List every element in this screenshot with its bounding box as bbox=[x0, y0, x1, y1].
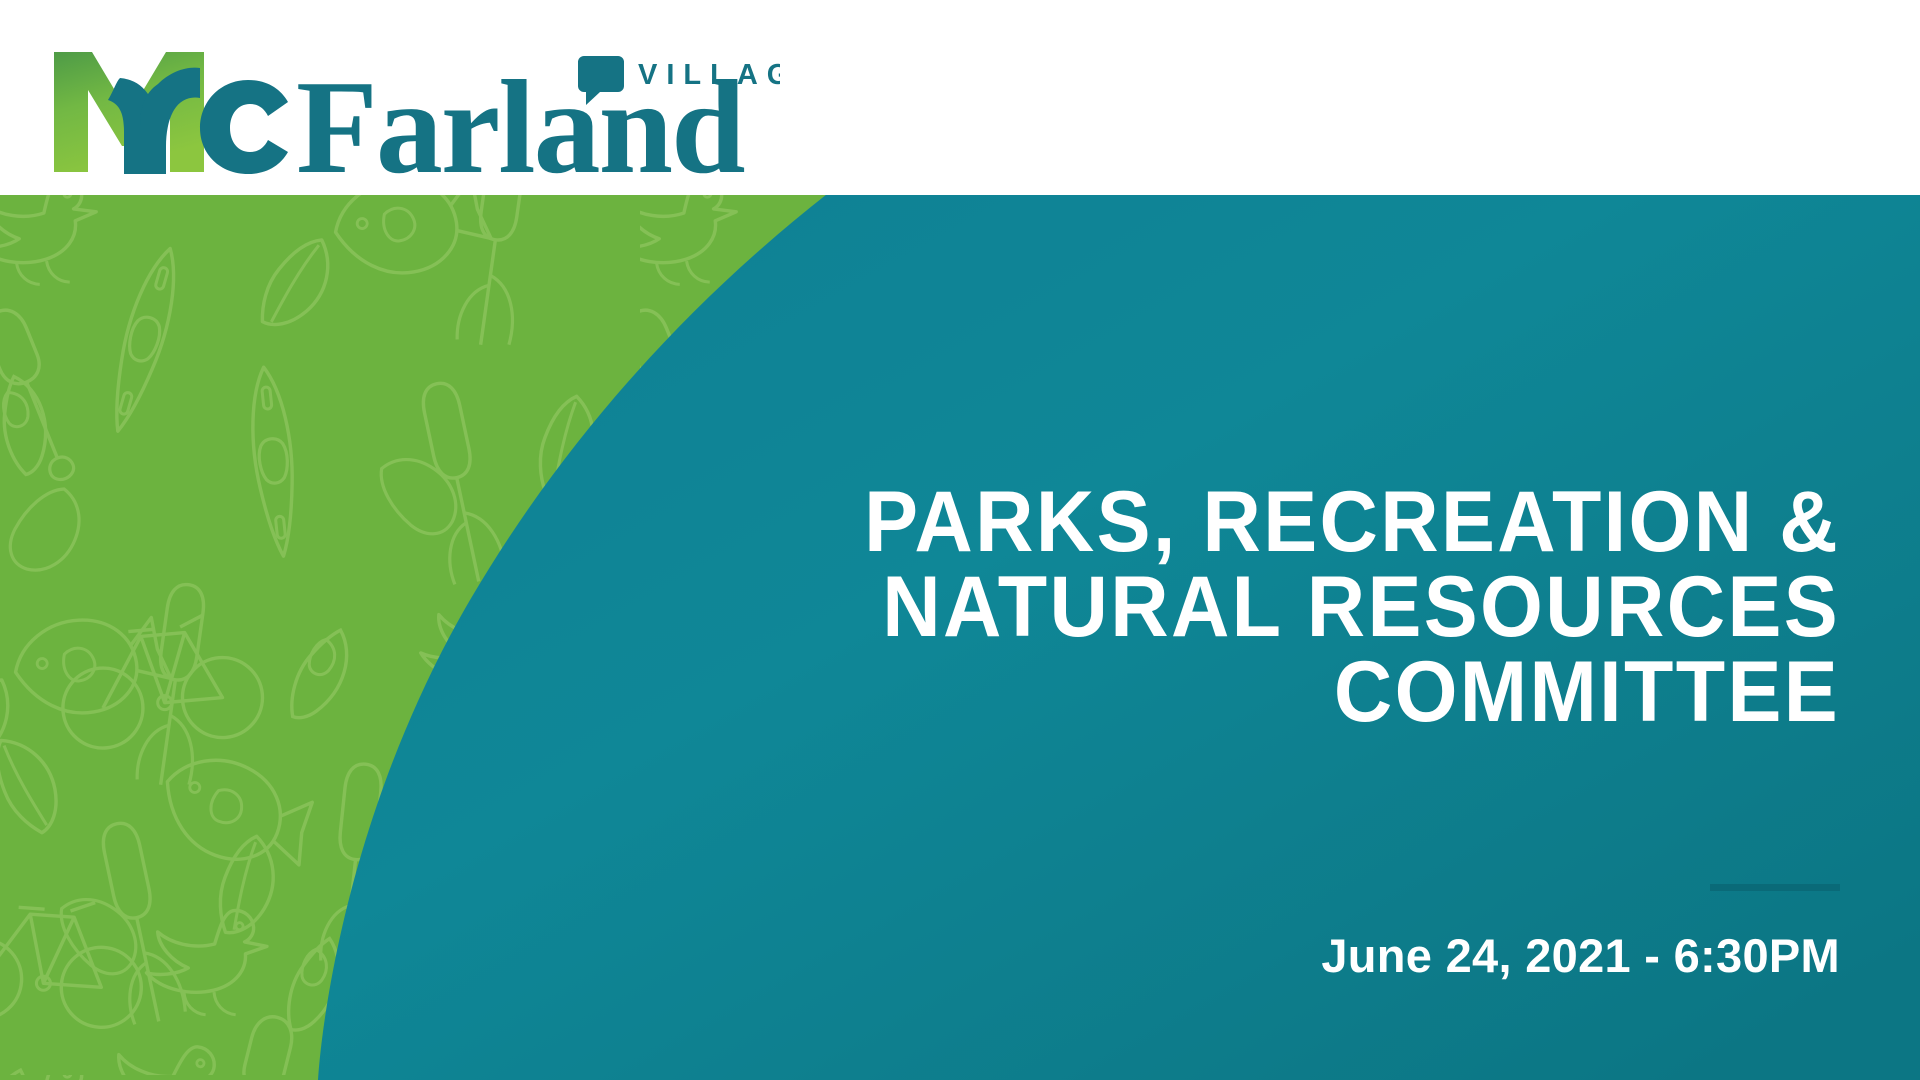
logo-eyebrow-text: VILLAGE OF bbox=[638, 59, 780, 91]
slide-canvas: Farland VILLAGE OF PARKS, RECREATION & N… bbox=[0, 0, 1920, 1080]
title-line-3: COMMITTEE bbox=[731, 650, 1840, 735]
title-line-2: NATURAL RESOURCES bbox=[731, 565, 1840, 650]
page-title: PARKS, RECREATION & NATURAL RESOURCES CO… bbox=[660, 480, 1840, 735]
title-line-1: PARKS, RECREATION & bbox=[731, 480, 1840, 565]
title-divider bbox=[1710, 884, 1840, 891]
event-datetime: June 24, 2021 - 6:30PM bbox=[940, 928, 1840, 983]
mcfarland-logo[interactable]: Farland VILLAGE OF bbox=[40, 22, 780, 182]
